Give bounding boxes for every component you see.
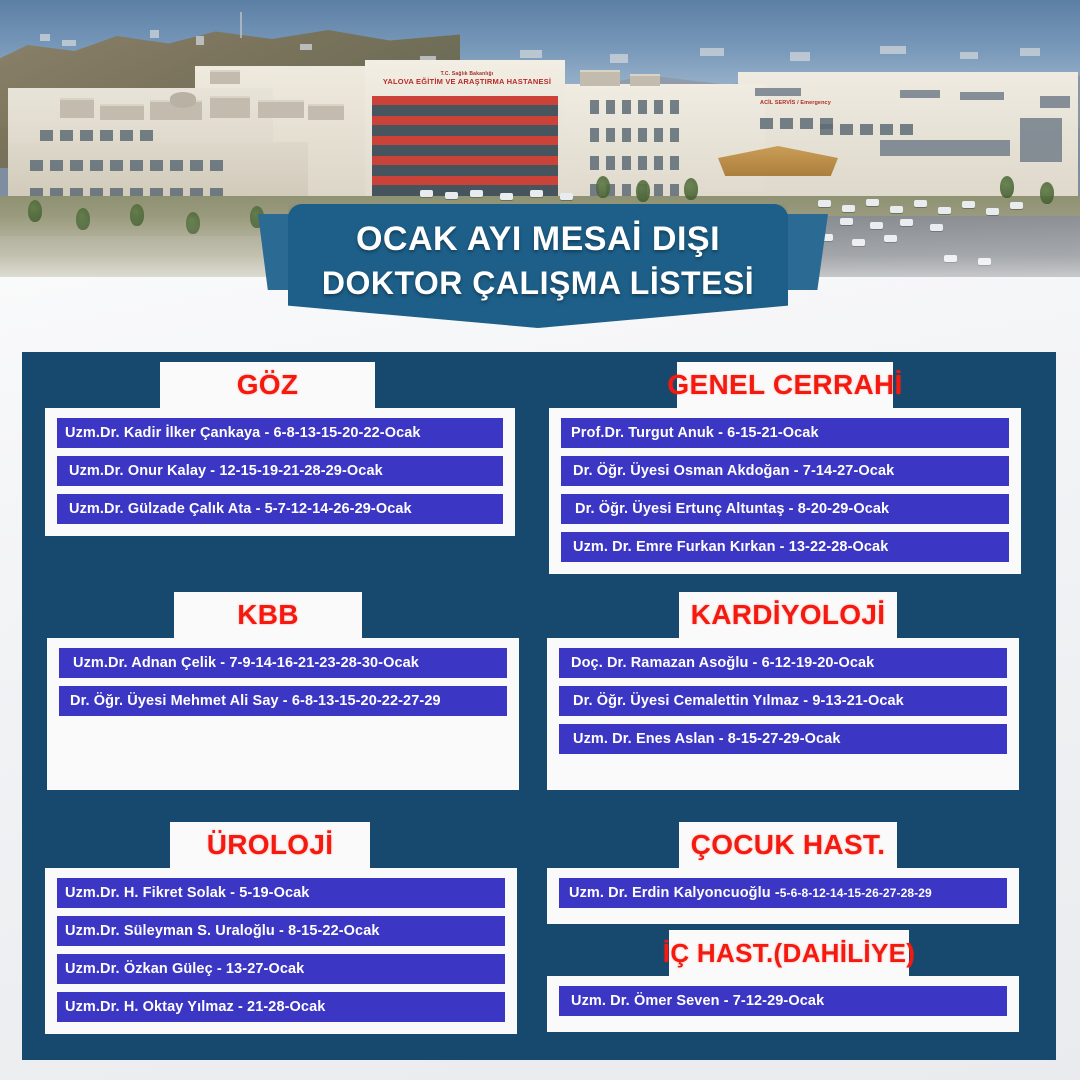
doctor-entry[interactable]: Uzm.Dr. Süleyman S. Uraloğlu - 8-15-22-O… (57, 916, 505, 946)
car (445, 192, 458, 199)
doctor-entry-text: Uzm.Dr. H. Fikret Solak - 5-19-Ocak (65, 885, 309, 901)
schedule-column-right: GENEL CERRAHİ Prof.Dr. Turgut Anuk - 6-1… (539, 352, 1056, 1060)
distant-building (300, 44, 312, 50)
window-band (900, 90, 940, 98)
department-card-kardiyoloji: Doç. Dr. Ramazan Asoğlu - 6-12-19-20-Oca… (547, 638, 1019, 790)
department-card-cocuk-hast: Uzm. Dr. Erdin Kalyoncuoğlu - 5-6-8-12-1… (547, 868, 1019, 924)
department-card-genel-cerrahi: Prof.Dr. Turgut Anuk - 6-15-21-Ocak Dr. … (549, 408, 1021, 574)
department-header-cocuk-hast: ÇOCUK HAST. (679, 822, 897, 868)
department-header-ic-hast: İÇ HAST.(DAHİLİYE) (669, 930, 909, 976)
tree (596, 176, 610, 198)
window-row (820, 124, 913, 135)
department-section-ic-hast: İÇ HAST.(DAHİLİYE) Uzm. Dr. Ömer Seven -… (539, 930, 1056, 1032)
ribbon-banner: OCAK AYI MESAİ DIŞI DOKTOR ÇALIŞMA LİSTE… (288, 204, 788, 328)
roof-duct (170, 92, 196, 108)
tree (684, 178, 698, 200)
doctor-entry-text: Uzm. Dr. Ömer Seven - 7-12-29-Ocak (571, 993, 824, 1009)
department-header-goz: GÖZ (160, 362, 375, 408)
department-section-genel-cerrahi: GENEL CERRAHİ Prof.Dr. Turgut Anuk - 6-1… (539, 362, 1056, 574)
doctor-entry[interactable]: Uzm.Dr. H. Oktay Yılmaz - 21-28-Ocak (57, 992, 505, 1022)
schedule-column-left: GÖZ Uzm.Dr. Kadir İlker Çankaya - 6-8-13… (22, 352, 539, 1060)
department-title: GÖZ (237, 369, 299, 401)
doctor-entry[interactable]: Dr. Öğr. Üyesi Osman Akdoğan - 7-14-27-O… (561, 456, 1009, 486)
doctor-entry-text: Uzm. Dr. Enes Aslan - 8-15-27-29-Ocak (573, 731, 841, 747)
doctor-entry-text: Uzm.Dr. H. Oktay Yılmaz - 21-28-Ocak (65, 999, 325, 1015)
doctor-entry[interactable]: Uzm.Dr. Kadir İlker Çankaya - 6-8-13-15-… (57, 418, 503, 448)
window-band (755, 88, 801, 96)
doctor-entry-dates: 5-6-8-12-14-15-26-27-28-29 (780, 886, 932, 900)
window-row (590, 100, 679, 114)
department-title: ÇOCUK HAST. (691, 829, 886, 861)
distant-building (610, 54, 628, 63)
doctor-entry[interactable]: Dr. Öğr. Üyesi Ertunç Altuntaş - 8-20-29… (561, 494, 1009, 524)
department-title: İÇ HAST.(DAHİLİYE) (663, 938, 915, 969)
department-title: GENEL CERRAHİ (667, 369, 902, 401)
doctor-entry-text: Uzm.Dr. Süleyman S. Uraloğlu - 8-15-22-O… (65, 923, 380, 939)
doctor-entry-text: Dr. Öğr. Üyesi Ertunç Altuntaş - 8-20-29… (575, 501, 889, 517)
window-row (590, 156, 679, 170)
doctor-entry[interactable]: Uzm.Dr. Onur Kalay - 12-15-19-21-28-29-O… (57, 456, 503, 486)
doctor-entry-text: Uzm.Dr. Kadir İlker Çankaya - 6-8-13-15-… (65, 425, 421, 441)
window-row (590, 128, 679, 142)
doctor-entry[interactable]: Prof.Dr. Turgut Anuk - 6-15-21-Ocak (561, 418, 1009, 448)
distant-building (62, 40, 76, 46)
window-band (1020, 118, 1062, 162)
car (500, 193, 513, 200)
doctor-entry-text: Dr. Öğr. Üyesi Osman Akdoğan - 7-14-27-O… (573, 463, 894, 479)
window-row (40, 130, 153, 141)
doctor-entry[interactable]: Uzm.Dr. Adnan Çelik - 7-9-14-16-21-23-28… (59, 648, 507, 678)
window-band (960, 92, 1004, 100)
doctor-entry-text: Uzm.Dr. Adnan Çelik - 7-9-14-16-21-23-28… (73, 655, 419, 671)
doctor-entry-text: Doç. Dr. Ramazan Asoğlu - 6-12-19-20-Oca… (571, 655, 874, 671)
doctor-entry-text: Dr. Öğr. Üyesi Cemalettin Yılmaz - 9-13-… (573, 693, 904, 709)
department-section-uroloji: ÜROLOJİ Uzm.Dr. H. Fikret Solak - 5-19-O… (22, 822, 539, 1034)
hospital-name-label: YALOVA EĞİTİM VE ARAŞTIRMA HASTANESİ (383, 77, 551, 86)
department-section-kbb: KBB Uzm.Dr. Adnan Çelik - 7-9-14-16-21-2… (22, 592, 539, 790)
doctor-entry[interactable]: Uzm. Dr. Emre Furkan Kırkan - 13-22-28-O… (561, 532, 1009, 562)
doctor-entry-text: Dr. Öğr. Üyesi Mehmet Ali Say - 6-8-13-1… (70, 693, 441, 709)
department-title: KARDİYOLOJİ (691, 599, 886, 631)
distant-building (700, 48, 724, 56)
card-empty-space (59, 724, 507, 754)
doctor-entry[interactable]: Dr. Öğr. Üyesi Mehmet Ali Say - 6-8-13-1… (59, 686, 507, 716)
roof-hvac-unit (630, 74, 660, 86)
doctor-entry[interactable]: Uzm.Dr. Özkan Güleç - 13-27-Ocak (57, 954, 505, 984)
department-card-uroloji: Uzm.Dr. H. Fikret Solak - 5-19-Ocak Uzm.… (45, 868, 517, 1034)
distant-building (40, 34, 50, 41)
car (420, 190, 433, 197)
doctor-entry[interactable]: Dr. Öğr. Üyesi Cemalettin Yılmaz - 9-13-… (559, 686, 1007, 716)
tree (636, 180, 650, 202)
doctor-entry-text: Prof.Dr. Turgut Anuk - 6-15-21-Ocak (571, 425, 819, 441)
department-card-ic-hast: Uzm. Dr. Ömer Seven - 7-12-29-Ocak (547, 976, 1019, 1032)
department-section-goz: GÖZ Uzm.Dr. Kadir İlker Çankaya - 6-8-13… (22, 362, 539, 536)
car (530, 190, 543, 197)
roof-hvac-unit (210, 96, 250, 118)
antenna-mast (240, 12, 242, 38)
roof-hvac-unit (100, 104, 144, 120)
tree (1000, 176, 1014, 198)
roof-hvac-unit (580, 70, 620, 86)
distant-building (150, 30, 159, 38)
department-header-kbb: KBB (174, 592, 362, 638)
distant-building (790, 52, 810, 61)
department-header-kardiyoloji: KARDİYOLOJİ (679, 592, 897, 638)
department-card-goz: Uzm.Dr. Kadir İlker Çankaya - 6-8-13-15-… (45, 408, 515, 536)
department-section-cocuk-hast: ÇOCUK HAST. Uzm. Dr. Erdin Kalyoncuoğlu … (539, 822, 1056, 924)
banner-title-line1: OCAK AYI MESAİ DIŞI (356, 220, 720, 259)
banner-title-line2: DOKTOR ÇALIŞMA LİSTESİ (322, 265, 754, 302)
doctor-entry-name: Uzm. Dr. Erdin Kalyoncuoğlu - (569, 885, 780, 901)
schedule-columns: GÖZ Uzm.Dr. Kadir İlker Çankaya - 6-8-13… (22, 352, 1056, 1060)
window-row (30, 160, 223, 171)
doctor-entry-text: Uzm.Dr. Gülzade Çalık Ata - 5-7-12-14-26… (69, 501, 412, 517)
distant-building (520, 50, 542, 58)
doctor-entry[interactable]: Uzm. Dr. Ömer Seven - 7-12-29-Ocak (559, 986, 1007, 1016)
emergency-sign-label: ACİL SERVİS / Emergency (760, 100, 870, 110)
doctor-entry[interactable]: Uzm. Dr. Erdin Kalyoncuoğlu - 5-6-8-12-1… (559, 878, 1007, 908)
hospital-roof-sign: T.C. Sağlık Bakanlığı YALOVA EĞİTİM VE A… (372, 68, 562, 90)
window-band (1040, 96, 1070, 108)
doctor-entry-text: Uzm. Dr. Emre Furkan Kırkan - 13-22-28-O… (573, 539, 888, 555)
title-ribbon: OCAK AYI MESAİ DIŞI DOKTOR ÇALIŞMA LİSTE… (0, 200, 1080, 328)
department-section-kardiyoloji: KARDİYOLOJİ Doç. Dr. Ramazan Asoğlu - 6-… (539, 592, 1056, 790)
roof-hvac-unit (308, 104, 344, 120)
doctor-entry[interactable]: Uzm.Dr. Gülzade Çalık Ata - 5-7-12-14-26… (57, 494, 503, 524)
distant-building (880, 46, 906, 54)
department-card-kbb: Uzm.Dr. Adnan Çelik - 7-9-14-16-21-23-28… (47, 638, 519, 790)
car (470, 190, 483, 197)
roof-hvac-unit (60, 98, 94, 118)
distant-building (1020, 48, 1040, 56)
window-band (880, 140, 1010, 156)
department-header-genel-cerrahi: GENEL CERRAHİ (677, 362, 893, 408)
car (560, 193, 573, 200)
roof-hvac-unit (210, 70, 240, 84)
doctor-entry-text: Uzm.Dr. Özkan Güleç - 13-27-Ocak (65, 961, 304, 977)
doctor-entry[interactable]: Doç. Dr. Ramazan Asoğlu - 6-12-19-20-Oca… (559, 648, 1007, 678)
department-header-uroloji: ÜROLOJİ (170, 822, 370, 868)
distant-building (196, 36, 204, 45)
department-title: ÜROLOJİ (207, 829, 334, 861)
doctor-entry-text: Uzm.Dr. Onur Kalay - 12-15-19-21-28-29-O… (69, 463, 383, 479)
department-title: KBB (237, 599, 299, 631)
schedule-panel: GÖZ Uzm.Dr. Kadir İlker Çankaya - 6-8-13… (22, 352, 1056, 1060)
doctor-entry[interactable]: Uzm. Dr. Enes Aslan - 8-15-27-29-Ocak (559, 724, 1007, 754)
doctor-entry[interactable]: Uzm.Dr. H. Fikret Solak - 5-19-Ocak (57, 878, 505, 908)
roof-hvac-unit (258, 100, 304, 118)
distant-building (960, 52, 978, 59)
